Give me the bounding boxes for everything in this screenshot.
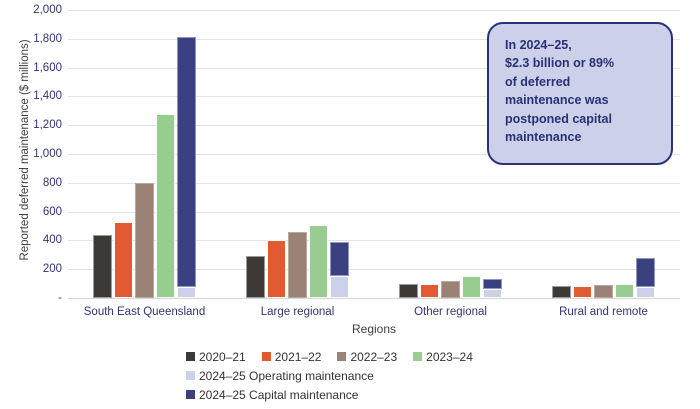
- callout-text: In 2024–25, $2.3 billion or 89% of defer…: [505, 36, 659, 146]
- bar-slot: [462, 10, 481, 298]
- bar-slot: [399, 10, 418, 298]
- bar[interactable]: [420, 284, 439, 298]
- bar[interactable]: [573, 286, 592, 298]
- x-axis-category-label: South East Queensland: [68, 302, 221, 322]
- legend-label: 2021–22: [275, 350, 322, 364]
- legend-swatch-icon: [186, 352, 195, 361]
- bar[interactable]: [615, 284, 634, 298]
- bar-operating-maintenance[interactable]: [177, 287, 196, 298]
- y-axis-tick-label: 200: [4, 263, 62, 275]
- bar-chart: Reported deferred maintenance ($ million…: [0, 0, 700, 409]
- bar-slot: [114, 10, 133, 298]
- legend-swatch-icon: [262, 352, 271, 361]
- bar-slot: [156, 10, 175, 298]
- legend-item[interactable]: 2022–23: [337, 350, 397, 364]
- y-axis-tick-label: -: [4, 292, 62, 304]
- callout-box: In 2024–25, $2.3 billion or 89% of defer…: [487, 22, 673, 165]
- legend-swatch-icon: [337, 352, 346, 361]
- bar-slot-stacked: [330, 10, 349, 298]
- y-axis-tick-label: 1,400: [4, 90, 62, 102]
- bar[interactable]: [135, 183, 154, 298]
- y-axis-tick-label: 1,600: [4, 62, 62, 74]
- legend-swatch-icon: [186, 390, 195, 399]
- bar-operating-maintenance[interactable]: [483, 289, 502, 298]
- legend-item[interactable]: 2023–24: [413, 350, 473, 364]
- bar-capital-maintenance[interactable]: [483, 279, 502, 290]
- legend-label: 2024–25 Operating maintenance: [199, 369, 374, 383]
- x-axis-title: Regions: [68, 322, 680, 336]
- bar-slot: [309, 10, 328, 298]
- x-axis-category-label: Other regional: [374, 302, 527, 322]
- x-axis-category-labels: South East QueenslandLarge regionalOther…: [68, 302, 680, 322]
- legend-label: 2024–25 Capital maintenance: [199, 388, 358, 402]
- legend-item[interactable]: 2024–25 Capital maintenance: [186, 388, 358, 402]
- x-axis-category-label: Large regional: [221, 302, 374, 322]
- legend-label: 2022–23: [350, 350, 397, 364]
- bar-slot: [246, 10, 265, 298]
- bar-slot: [288, 10, 307, 298]
- bar-group: [68, 10, 221, 298]
- bar[interactable]: [594, 285, 613, 298]
- bar[interactable]: [246, 256, 265, 298]
- legend-label: 2023–24: [426, 350, 473, 364]
- legend: 2020–212021–222022–232023–24 2024–25 Ope…: [186, 347, 606, 404]
- legend-row-operating: 2024–25 Operating maintenance: [186, 366, 606, 385]
- bar[interactable]: [462, 276, 481, 298]
- bar[interactable]: [552, 286, 571, 298]
- bar-operating-maintenance[interactable]: [636, 287, 655, 298]
- y-axis-tick-label: 1,800: [4, 33, 62, 45]
- bar[interactable]: [288, 232, 307, 298]
- legend-item[interactable]: 2020–21: [186, 350, 246, 364]
- gridline: [68, 298, 680, 299]
- legend-swatch-icon: [413, 352, 422, 361]
- legend-row-capital: 2024–25 Capital maintenance: [186, 385, 606, 404]
- legend-label: 2020–21: [199, 350, 246, 364]
- bar-group: [221, 10, 374, 298]
- legend-swatch-icon: [186, 371, 195, 380]
- y-axis-tick-label: 800: [4, 177, 62, 189]
- y-axis-tick-label: 2,000: [4, 4, 62, 16]
- bar-capital-maintenance[interactable]: [177, 37, 196, 288]
- bar-operating-maintenance[interactable]: [330, 276, 349, 298]
- bar-slot-stacked: [177, 10, 196, 298]
- bar-capital-maintenance[interactable]: [330, 242, 349, 276]
- bar[interactable]: [441, 281, 460, 298]
- bar-slot: [93, 10, 112, 298]
- bar[interactable]: [114, 222, 133, 298]
- y-axis-tick-label: 1,200: [4, 119, 62, 131]
- bar-slot: [267, 10, 286, 298]
- bar[interactable]: [267, 240, 286, 298]
- y-axis-tick-label: 1,000: [4, 148, 62, 160]
- bar-slot: [135, 10, 154, 298]
- bar-slot: [441, 10, 460, 298]
- bar-slot: [420, 10, 439, 298]
- bar[interactable]: [309, 225, 328, 298]
- legend-item[interactable]: 2021–22: [262, 350, 322, 364]
- y-axis-tick-label: 600: [4, 206, 62, 218]
- legend-row-primary: 2020–212021–222022–232023–24: [186, 347, 606, 366]
- bar-capital-maintenance[interactable]: [636, 258, 655, 288]
- bar[interactable]: [93, 235, 112, 298]
- legend-item[interactable]: 2024–25 Operating maintenance: [186, 369, 374, 383]
- y-axis-tick-label: 400: [4, 234, 62, 246]
- x-axis-category-label: Rural and remote: [527, 302, 680, 322]
- bar[interactable]: [399, 284, 418, 298]
- bar[interactable]: [156, 114, 175, 298]
